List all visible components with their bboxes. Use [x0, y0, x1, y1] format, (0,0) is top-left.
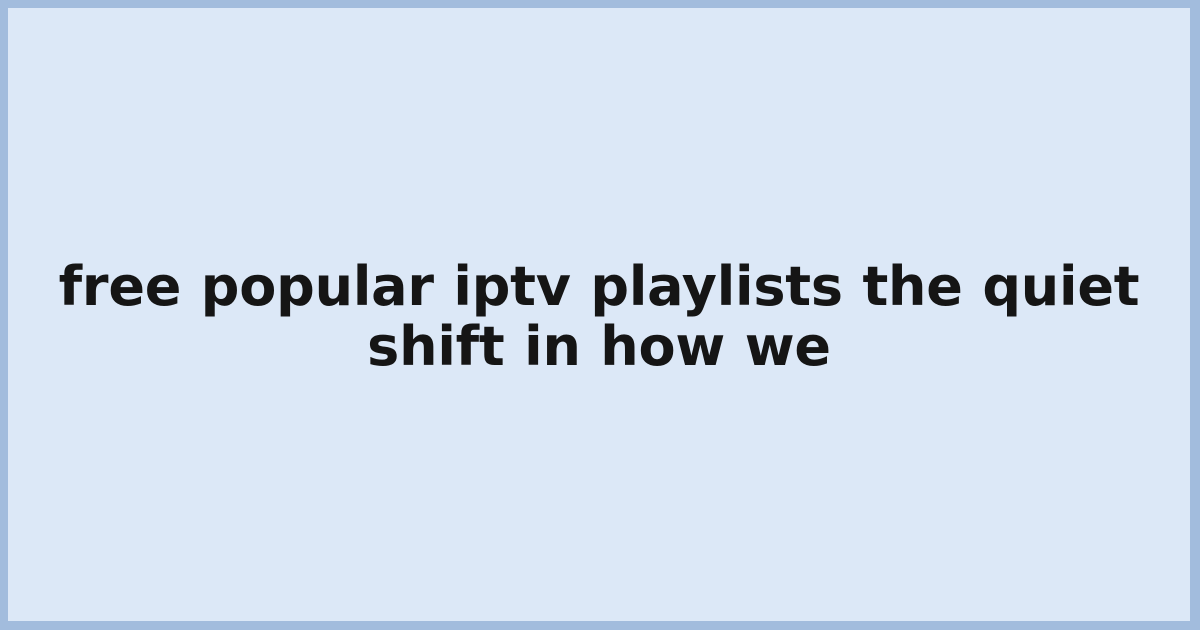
og-preview-card: free popular iptv playlists the quiet sh…	[0, 0, 1200, 630]
card-canvas: free popular iptv playlists the quiet sh…	[8, 8, 1190, 621]
headline-text: free popular iptv playlists the quiet sh…	[30, 257, 1168, 377]
